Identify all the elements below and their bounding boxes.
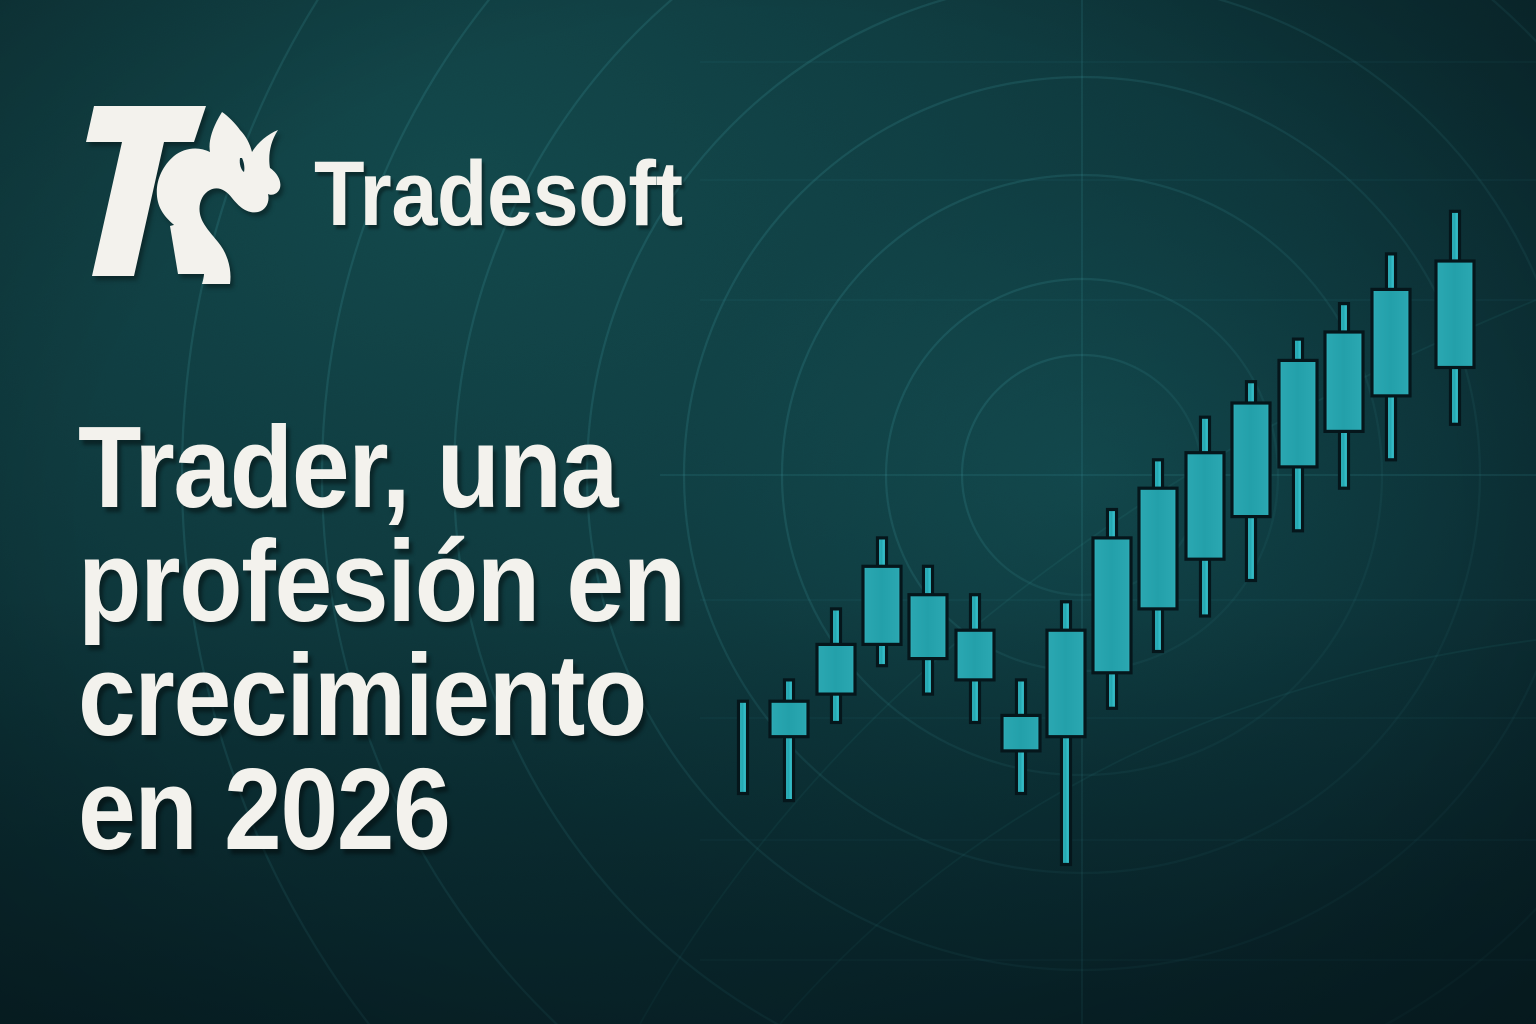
brand-name: Tradesoft xyxy=(314,148,683,240)
brand-lockup: Tradesoft xyxy=(74,96,724,286)
headline-line-4: en 2026 xyxy=(78,752,687,866)
tradesoft-bull-t-logo-icon xyxy=(74,98,298,284)
content-column: Tradesoft Trader, una profesión en creci… xyxy=(74,0,774,1024)
headline-line-1: Trader, una xyxy=(78,410,687,524)
headline-line-2: profesión en xyxy=(78,524,687,638)
headline-line-3: crecimiento xyxy=(78,638,687,752)
page-headline: Trader, una profesión en crecimiento en … xyxy=(78,410,758,867)
poster-canvas: Tradesoft Trader, una profesión en creci… xyxy=(0,0,1536,1024)
